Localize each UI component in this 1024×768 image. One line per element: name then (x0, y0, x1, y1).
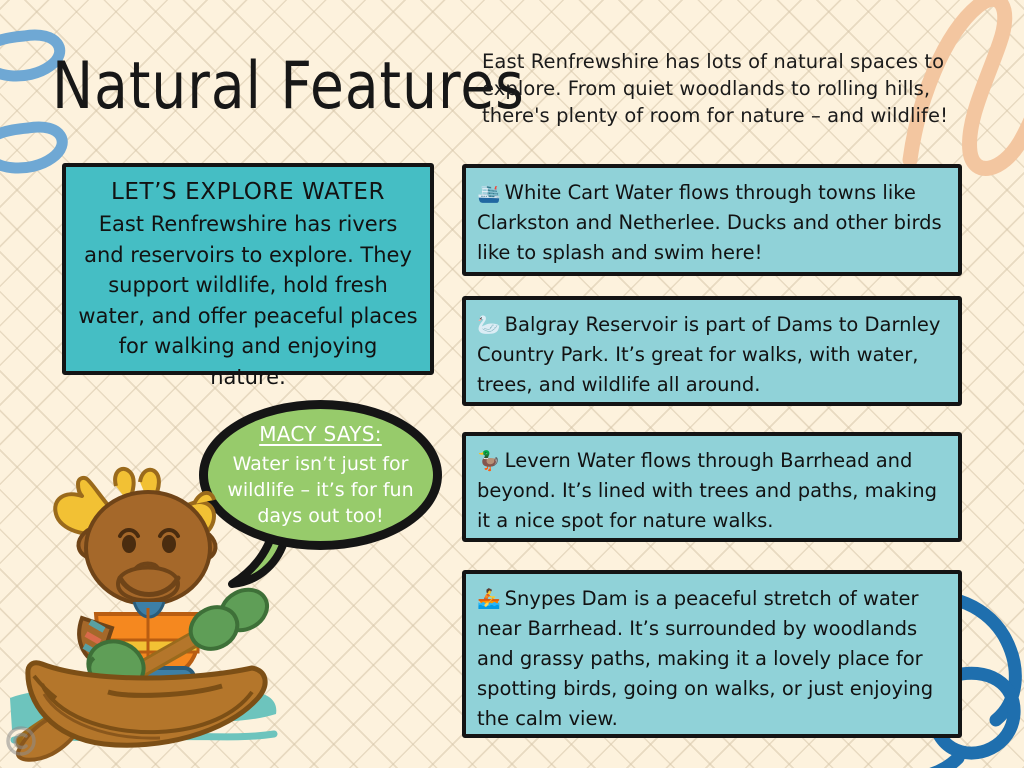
feature-card-text: White Cart Water flows through towns lik… (477, 181, 942, 264)
feature-card-levern-water: 🦆Levern Water flows through Barrhead and… (462, 432, 962, 542)
speech-bubble-speaker: MACY SAYS: (224, 421, 417, 447)
head (86, 492, 210, 604)
feature-card-text: Levern Water flows through Barrhead and … (477, 449, 937, 532)
rowboat-icon: 🚣 (477, 588, 501, 610)
intro-paragraph: East Renfrewshire has lots of natural sp… (482, 48, 962, 129)
explore-water-panel: LET’S EXPLORE WATER East Renfrewshire ha… (62, 163, 434, 375)
feature-card-snypes-dam: 🚣Snypes Dam is a peaceful stretch of wat… (462, 570, 962, 738)
explore-water-heading: LET’S EXPLORE WATER (78, 177, 418, 207)
feature-card-balgray-reservoir: 🦢Balgray Reservoir is part of Dams to Da… (462, 296, 962, 406)
macy-the-moose-illustration (8, 452, 280, 764)
feature-card-white-cart-water: 🛳️White Cart Water flows through towns l… (462, 164, 962, 276)
passenger-ship-icon: 🛳️ (477, 182, 501, 204)
swan-icon: 🦢 (477, 314, 501, 336)
poster-canvas: Natural Features East Renfrewshire has l… (0, 0, 1024, 768)
explore-water-body: East Renfrewshire has rivers and reservo… (78, 209, 418, 392)
feature-card-text: Balgray Reservoir is part of Dams to Dar… (477, 313, 940, 396)
duck-icon: 🦆 (477, 450, 501, 472)
page-title: Natural Features (52, 48, 482, 126)
copyright-symbol (4, 724, 38, 758)
feature-card-text: Snypes Dam is a peaceful stretch of wate… (477, 587, 933, 730)
